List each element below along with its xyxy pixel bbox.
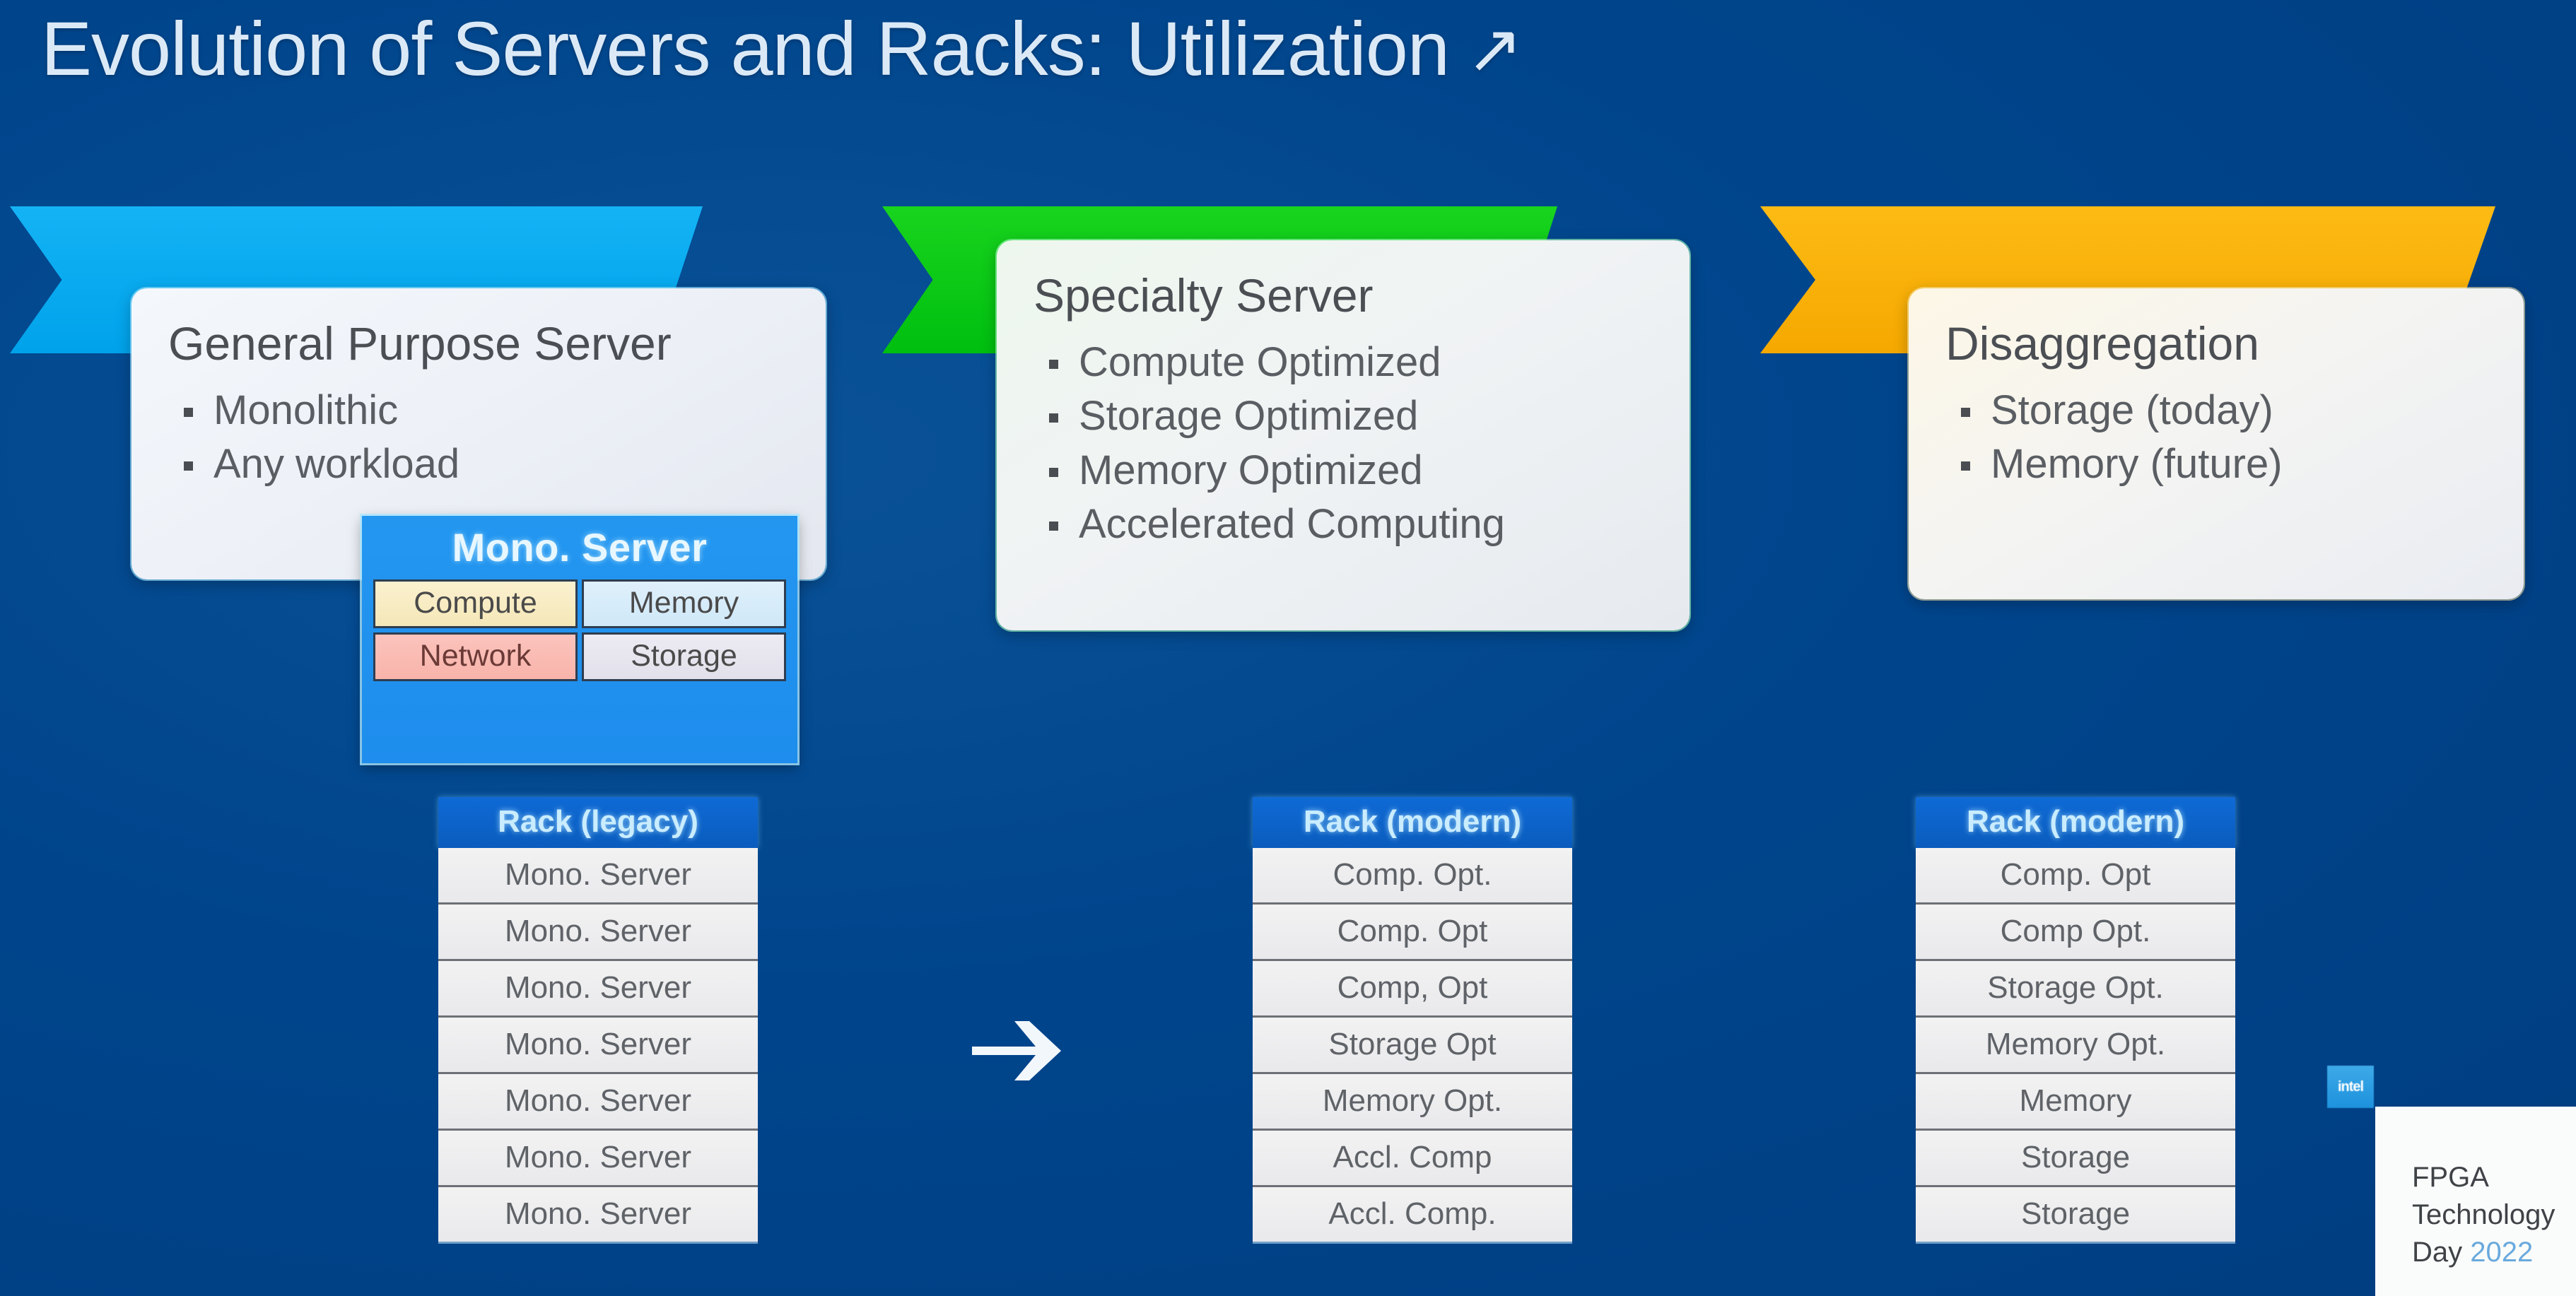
list-item: Storage (today) (1957, 384, 2488, 438)
table-row: Comp Opt. (1916, 905, 2235, 961)
page-title: Evolution of Servers and Racks: Utilizat… (41, 4, 1522, 93)
table-row: Comp, Opt (1253, 961, 1572, 1018)
table-row: Accl. Comp (1253, 1131, 1572, 1187)
page-title-text: Evolution of Servers and Racks: Utilizat… (41, 6, 1449, 91)
mono-server-component-grid: Compute Memory Network Storage (373, 579, 786, 681)
component-network: Network (373, 632, 578, 681)
table-row: Storage (1916, 1131, 2235, 1187)
slide-canvas: Evolution of Servers and Racks: Utilizat… (0, 0, 2576, 1296)
rack-header: Rack (modern) (1916, 797, 2235, 848)
list-item: Storage Optimized (1045, 389, 1654, 444)
table-row: Comp. Opt (1916, 848, 2235, 905)
component-memory: Memory (582, 579, 786, 628)
list-item: Compute Optimized (1045, 336, 1654, 390)
list-item: Any workload (180, 437, 790, 492)
bullet-list: Storage (today) Memory (future) (1945, 384, 2488, 492)
table-row: Storage (1916, 1187, 2235, 1242)
logo-line-3: Day (2412, 1237, 2470, 1268)
card-title: Disaggregation (1945, 318, 2488, 370)
list-item: Monolithic (180, 384, 790, 438)
card-title: General Purpose Server (168, 318, 790, 370)
list-item: Memory Optimized (1045, 444, 1654, 498)
component-compute: Compute (373, 579, 578, 628)
logo-line-1: FPGA (2412, 1162, 2489, 1193)
mono-server-title: Mono. Server (373, 523, 786, 572)
rack-modern-specialty: Rack (modern) Comp. Opt. Comp. Opt Comp,… (1253, 797, 1572, 1242)
component-storage: Storage (582, 632, 786, 681)
table-row: Comp. Opt (1253, 905, 1572, 961)
table-row: Memory Opt. (1916, 1018, 2235, 1074)
arrow-up-right-icon: ↗ (1466, 9, 1522, 88)
event-logo-text: FPGA Technology Day 2022 (2412, 1159, 2576, 1271)
table-row: Memory Opt. (1253, 1074, 1572, 1131)
disaggregation-card: Disaggregation Storage (today) Memory (f… (1909, 288, 2524, 599)
logo-year: 2022 (2470, 1237, 2533, 1268)
table-row: Comp. Opt. (1253, 848, 1572, 905)
rack-modern-disaggregated: Rack (modern) Comp. Opt Comp Opt. Storag… (1916, 797, 2235, 1242)
bullet-list: Monolithic Any workload (168, 384, 790, 492)
logo-line-2: Technology (2412, 1199, 2555, 1230)
table-row: Mono. Server (438, 961, 758, 1018)
table-row: Mono. Server (438, 1074, 758, 1131)
list-item: Accelerated Computing (1045, 497, 1654, 552)
rack-header: Rack (legacy) (438, 797, 758, 848)
bullet-list: Compute Optimized Storage Optimized Memo… (1034, 336, 1654, 552)
table-row: Storage Opt (1253, 1018, 1572, 1074)
specialty-server-card: Specialty Server Compute Optimized Stora… (997, 240, 1690, 630)
rack-legacy: Rack (legacy) Mono. Server Mono. Server … (438, 797, 758, 1242)
table-row: Mono. Server (438, 1187, 758, 1242)
table-row: Mono. Server (438, 1018, 758, 1074)
rack-header: Rack (modern) (1253, 797, 1572, 848)
event-logo-panel: FPGA Technology Day 2022 (2375, 1107, 2576, 1296)
card-title: Specialty Server (1034, 270, 1654, 322)
table-row: Accl. Comp. (1253, 1187, 1572, 1242)
mono-server-diagram: Mono. Server Compute Memory Network Stor… (362, 516, 797, 763)
arrow-right-icon (960, 998, 1073, 1104)
table-row: Mono. Server (438, 1131, 758, 1187)
table-row: Storage Opt. (1916, 961, 2235, 1018)
table-row: Mono. Server (438, 905, 758, 961)
table-row: Memory (1916, 1074, 2235, 1131)
list-item: Memory (future) (1957, 437, 2488, 492)
table-row: Mono. Server (438, 848, 758, 905)
intel-logo-icon: intel (2327, 1066, 2374, 1108)
